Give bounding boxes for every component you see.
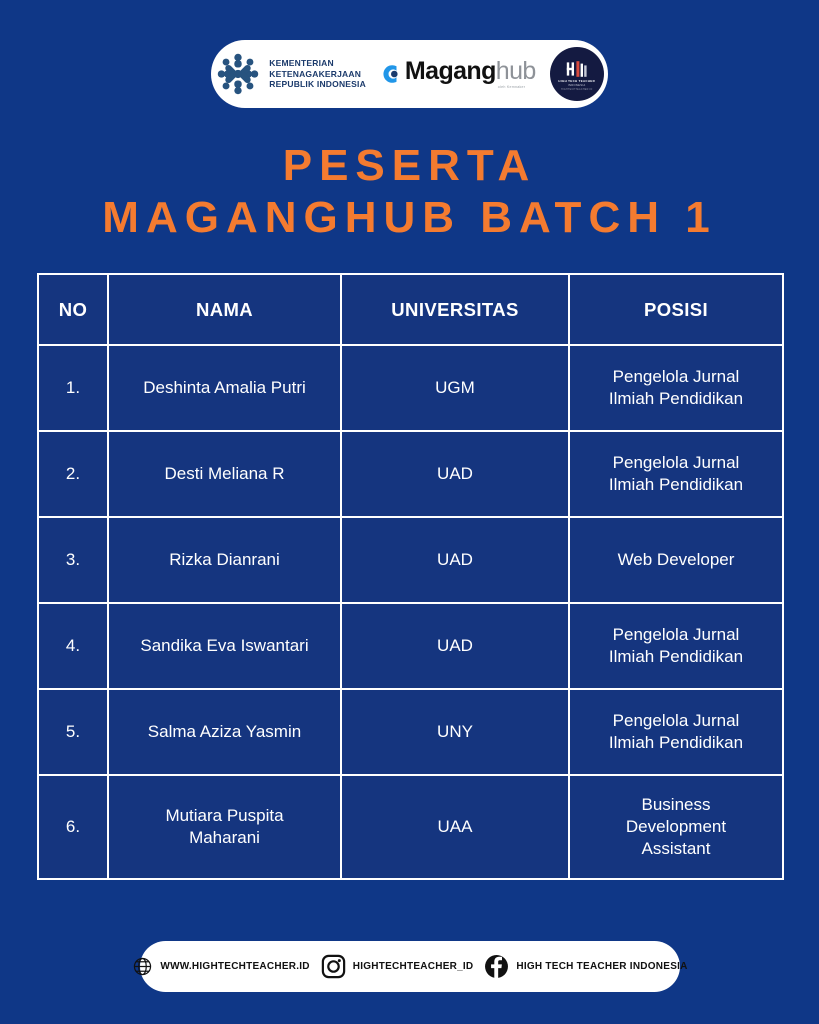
cell-no: 3.	[38, 517, 108, 603]
kemnaker-line-2: KETENAGAKERJAAN	[269, 69, 361, 79]
maganghub-word-light: hub	[496, 59, 536, 84]
instagram-icon	[321, 954, 346, 979]
page-title-line-1: PESERTA	[283, 141, 537, 190]
footer-instagram-group[interactable]: HIGHTECHTEACHER_ID	[321, 954, 474, 979]
footer-website-group[interactable]: WWW.HIGHTECHTEACHER.ID	[132, 956, 309, 977]
cell-posisi: Pengelola JurnalIlmiah Pendidikan	[569, 345, 783, 431]
maganghub-tagline: oleh Kemnaker	[498, 85, 525, 89]
table-row: 3. Rizka Dianrani UAD Web Developer	[38, 517, 783, 603]
maganghub-wordmark: Magang hub oleh Kemnaker	[405, 59, 536, 89]
footer-instagram-label: HIGHTECHTEACHER_ID	[353, 961, 474, 972]
column-header-nama: NAMA	[108, 274, 341, 345]
participants-table: NO NAMA UNIVERSITAS POSISI 1. Deshinta A…	[37, 273, 784, 880]
cell-nama: Mutiara PuspitaMaharani	[108, 775, 341, 879]
maganghub-hub-wrap: hub oleh Kemnaker	[496, 59, 536, 89]
cell-nama: Deshinta Amalia Putri	[108, 345, 341, 431]
column-header-universitas: UNIVERSITAS	[341, 274, 569, 345]
cell-universitas: UNY	[341, 689, 569, 775]
table-row: 4. Sandika Eva Iswantari UAD Pengelola J…	[38, 603, 783, 689]
maganghub-c-mark-icon	[380, 63, 402, 85]
cell-nama: Rizka Dianrani	[108, 517, 341, 603]
cell-nama: Desti Meliana R	[108, 431, 341, 517]
header-logo-bar: KEMENTERIANKETENAGAKERJAANREPUBLIK INDON…	[211, 40, 608, 108]
footer-contact-bar: WWW.HIGHTECHTEACHER.ID HIGHTECHTEACHER_I…	[140, 941, 680, 992]
cell-posisi: Pengelola JurnalIlmiah Pendidikan	[569, 689, 783, 775]
table-header-row: NO NAMA UNIVERSITAS POSISI	[38, 274, 783, 345]
cell-universitas: UAD	[341, 603, 569, 689]
globe-icon	[132, 956, 153, 977]
cell-universitas: UGM	[341, 345, 569, 431]
cell-posisi: BusinessDevelopmentAssistant	[569, 775, 783, 879]
page-title: PESERTA MAGANGHUB BATCH 1	[0, 140, 819, 244]
cell-no: 2.	[38, 431, 108, 517]
poster-canvas: KEMENTERIANKETENAGAKERJAANREPUBLIK INDON…	[0, 0, 819, 1024]
footer-facebook-label: HIGH TECH TEACHER INDONESIA	[516, 961, 687, 972]
cell-posisi: Pengelola JurnalIlmiah Pendidikan	[569, 603, 783, 689]
table-row: 1. Deshinta Amalia Putri UGM Pengelola J…	[38, 345, 783, 431]
htt-line-3: HIGHTECHTEACHER.ID	[561, 88, 592, 91]
footer-facebook-group[interactable]: HIGH TECH TEACHER INDONESIA	[484, 954, 687, 979]
footer-website-label: WWW.HIGHTECHTEACHER.ID	[160, 961, 309, 972]
cell-no: 5.	[38, 689, 108, 775]
cell-posisi: Web Developer	[569, 517, 783, 603]
kemnaker-line-3: REPUBLIK INDONESIA	[269, 79, 366, 89]
cell-no: 6.	[38, 775, 108, 879]
high-tech-teacher-badge-icon	[565, 60, 589, 78]
table-row: 2. Desti Meliana R UAD Pengelola JurnalI…	[38, 431, 783, 517]
kemnaker-line-1: KEMENTERIAN	[269, 58, 334, 68]
cell-universitas: UAA	[341, 775, 569, 879]
high-tech-teacher-badge: HIGH TECH TEACHER INDONESIA HIGHTECHTEAC…	[550, 47, 604, 101]
maganghub-logo-group: Magang hub oleh Kemnaker	[380, 59, 536, 89]
htt-line-2: INDONESIA	[568, 84, 585, 87]
facebook-icon	[484, 954, 509, 979]
cell-nama: Sandika Eva Iswantari	[108, 603, 341, 689]
table-row: 6. Mutiara PuspitaMaharani UAA BusinessD…	[38, 775, 783, 879]
table-header: NO NAMA UNIVERSITAS POSISI	[38, 274, 783, 345]
cell-universitas: UAD	[341, 517, 569, 603]
kemnaker-wordmark: KEMENTERIANKETENAGAKERJAANREPUBLIK INDON…	[269, 58, 366, 91]
page-title-line-2: MAGANGHUB BATCH 1	[0, 192, 819, 244]
cell-no: 4.	[38, 603, 108, 689]
cell-posisi: Pengelola JurnalIlmiah Pendidikan	[569, 431, 783, 517]
table-row: 5. Salma Aziza Yasmin UNY Pengelola Jurn…	[38, 689, 783, 775]
column-header-posisi: POSISI	[569, 274, 783, 345]
htt-line-1: HIGH TECH TEACHER	[558, 79, 595, 83]
kemnaker-rosette-icon	[215, 50, 261, 98]
maganghub-word-bold: Magang	[405, 59, 496, 84]
cell-universitas: UAD	[341, 431, 569, 517]
cell-nama: Salma Aziza Yasmin	[108, 689, 341, 775]
column-header-no: NO	[38, 274, 108, 345]
table-body: 1. Deshinta Amalia Putri UGM Pengelola J…	[38, 345, 783, 879]
kemnaker-logo-group: KEMENTERIANKETENAGAKERJAANREPUBLIK INDON…	[215, 50, 366, 98]
cell-no: 1.	[38, 345, 108, 431]
